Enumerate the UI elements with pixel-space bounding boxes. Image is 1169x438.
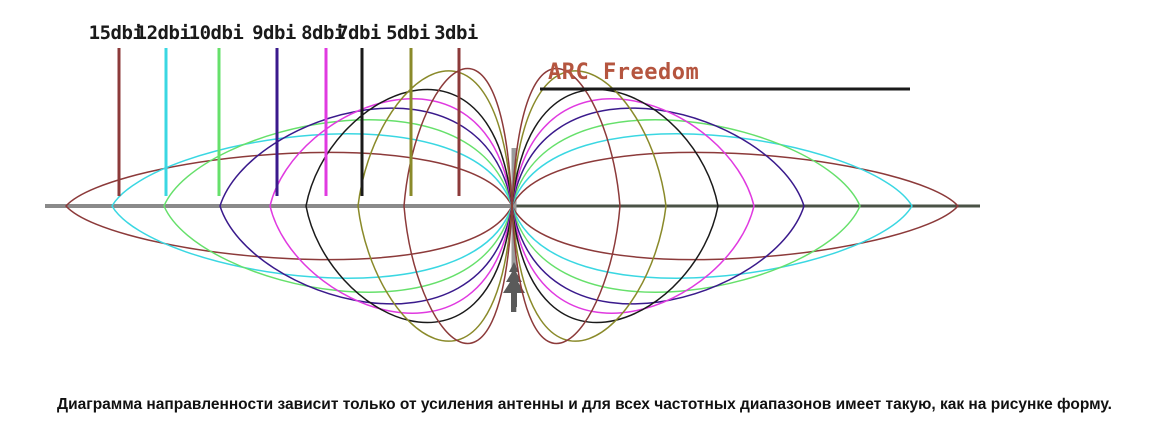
legend-label-9dbi: 9dbi — [252, 22, 296, 44]
radiation-pattern-diagram: 15dbi12dbi10dbi9dbi8dbi7dbi5dbi3dbi ARC … — [0, 0, 1169, 438]
legend-label-12dbi: 12dbi — [136, 22, 191, 44]
legend-label-7dbi: 7dbi — [337, 22, 381, 44]
legend-label-5dbi: 5dbi — [386, 22, 430, 44]
legend-label-10dbi: 10dbi — [189, 22, 244, 44]
legend-label-group: 15dbi12dbi10dbi9dbi8dbi7dbi5dbi3dbi — [89, 22, 478, 44]
brand-title: ARC Freedom — [548, 60, 699, 85]
antenna-pattern-figure: 15dbi12dbi10dbi9dbi8dbi7dbi5dbi3dbi ARC … — [0, 0, 1169, 438]
figure-caption: Диаграмма направленности зависит только … — [0, 396, 1169, 414]
legend-label-3dbi: 3dbi — [434, 22, 478, 44]
